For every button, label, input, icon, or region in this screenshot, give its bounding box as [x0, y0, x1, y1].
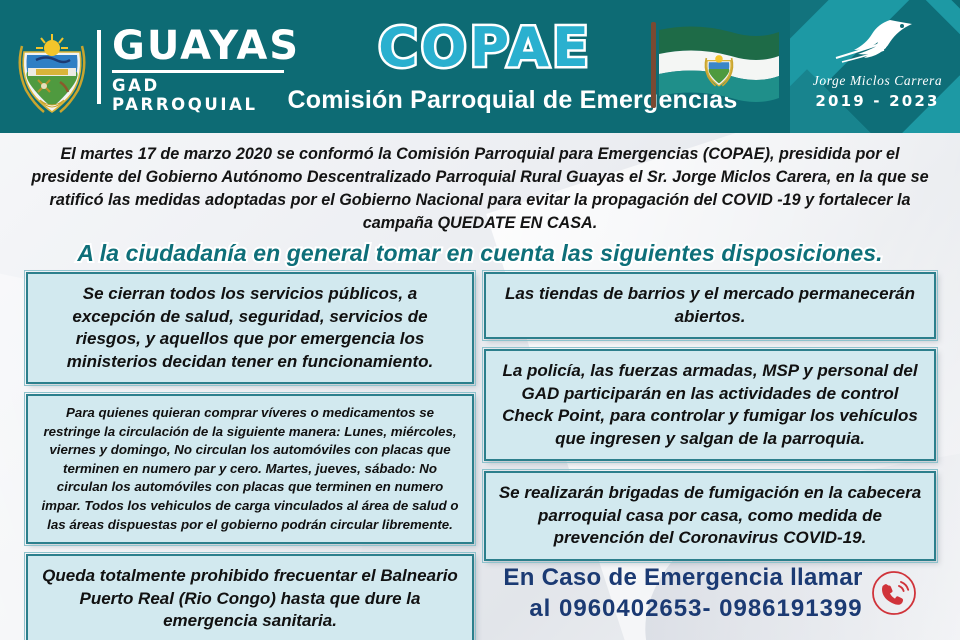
copae-acronym: COPAE — [285, 16, 685, 79]
poster-canvas: GUAYAS GAD PARROQUIAL COPAE Comisión Par… — [0, 0, 960, 640]
signature-name: Jorge Miclos Carrera — [805, 73, 950, 89]
disposition-box-public-services: Se cierran todos los servicios públicos,… — [26, 272, 474, 384]
disposition-box-beach-prohibition: Queda totalmente prohibido frecuentar el… — [26, 554, 474, 640]
phone-ringing-icon[interactable] — [871, 570, 917, 616]
poster-header: GUAYAS GAD PARROQUIAL COPAE Comisión Par… — [0, 0, 960, 133]
guayas-coat-of-arms-icon — [14, 22, 90, 114]
right-column: Las tiendas de barrios y el mercado perm… — [484, 272, 936, 571]
disposition-box-checkpoint-control: La policía, las fuerzas armadas, MSP y p… — [484, 349, 936, 461]
org-name-rule — [112, 70, 284, 73]
emergency-text: En Caso de Emergencia llamar al 09604026… — [503, 562, 862, 624]
org-name: GUAYAS — [112, 24, 287, 68]
left-column: Se cierran todos los servicios públicos,… — [26, 272, 474, 640]
disposition-box-shops-market: Las tiendas de barrios y el mercado perm… — [484, 272, 936, 339]
intro-paragraph: El martes 17 de marzo 2020 se conformó l… — [30, 143, 930, 235]
dove-icon — [828, 14, 928, 66]
header-divider — [97, 30, 101, 104]
guayas-flag-icon — [645, 22, 785, 108]
disposition-box-vehicle-restriction: Para quienes quieran comprar víveres o m… — [26, 394, 474, 544]
emergency-line-2: al 0960402653- 0986191399 — [503, 593, 862, 624]
emergency-contact: En Caso de Emergencia llamar al 09604026… — [484, 562, 936, 624]
emergency-line-1: En Caso de Emergencia llamar — [503, 562, 862, 593]
disposition-box-fumigation-brigades: Se realizarán brigadas de fumigación en … — [484, 471, 936, 561]
call-to-action-banner: A la ciudadanía en general tomar en cuen… — [0, 240, 960, 267]
signature-years: 2019 - 2023 — [805, 92, 950, 110]
mayor-signature-block: Jorge Miclos Carrera 2019 - 2023 — [805, 14, 950, 110]
